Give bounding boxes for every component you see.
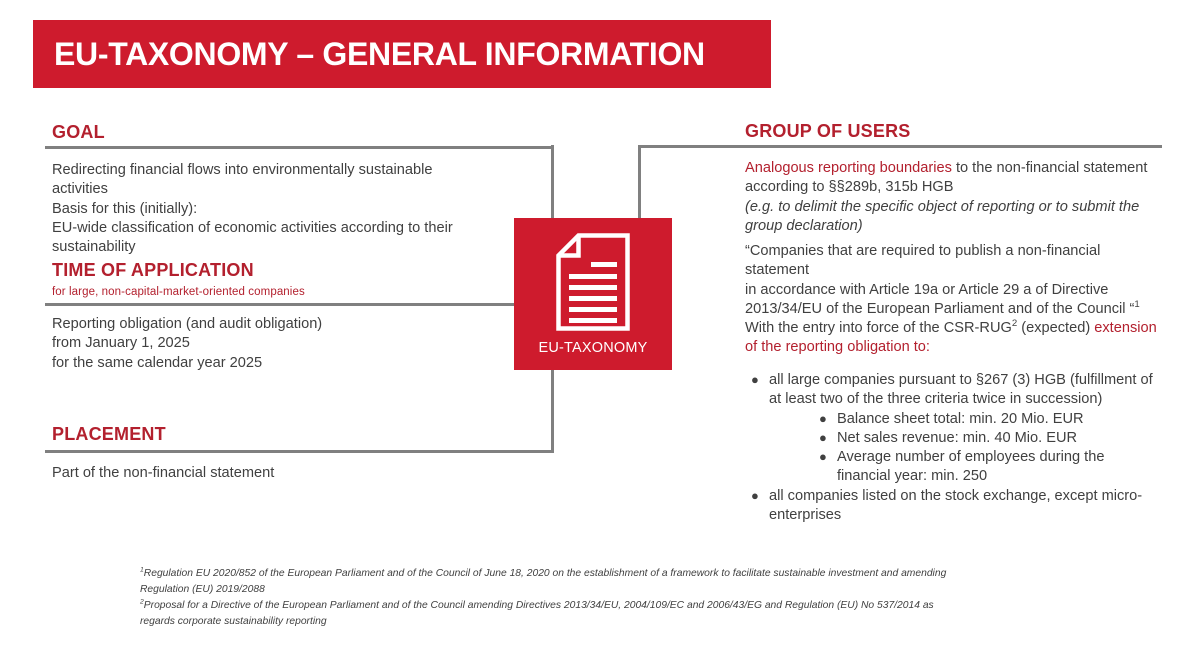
center-tile-label: EU-TAXONOMY bbox=[514, 340, 672, 356]
para2-line-3: 2013/34/EU of the European Parliament an… bbox=[745, 300, 1165, 319]
list-item: ● Balance sheet total: min. 20 Mio. EUR bbox=[813, 410, 1155, 429]
goal-body: Redirecting financial flows into environ… bbox=[52, 161, 522, 257]
placement-body: Part of the non-financial statement bbox=[52, 464, 522, 483]
list-item: ● Net sales revenue: min. 40 Mio. EUR bbox=[813, 429, 1155, 448]
para1-line-2: according to §§289b, 315b HGB bbox=[745, 178, 1165, 197]
bullet-marker-icon: ● bbox=[819, 429, 827, 446]
para2-line-1: “Companies that are required to publish … bbox=[745, 242, 1165, 281]
group-of-users-bullet-list: ● all large companies pursuant to §267 (… bbox=[745, 371, 1155, 525]
toa-line-1: Reporting obligation (and audit obligati… bbox=[52, 315, 522, 334]
time-of-application-body: Reporting obligation (and audit obligati… bbox=[52, 315, 522, 373]
bullet-marker-icon: ● bbox=[819, 448, 827, 465]
para3-lead: With the entry into force of the CSR-RUG bbox=[745, 320, 1012, 336]
bullet-text: Net sales revenue: min. 40 Mio. EUR bbox=[837, 430, 1077, 446]
bullet-list-level-2: ● Balance sheet total: min. 20 Mio. EUR … bbox=[813, 410, 1155, 487]
section-heading-placement: PLACEMENT bbox=[52, 425, 166, 445]
footnote-1-text: Regulation EU 2020/852 of the European P… bbox=[140, 568, 946, 595]
page-title: EU-TAXONOMY – GENERAL INFORMATION bbox=[54, 38, 705, 70]
document-icon bbox=[555, 232, 631, 337]
group-of-users-para-3: With the entry into force of the CSR-RUG… bbox=[745, 319, 1165, 358]
toa-line-2: from January 1, 2025 bbox=[52, 334, 522, 353]
goal-line-2: activities bbox=[52, 180, 522, 199]
goal-line-4: EU-wide classification of economic activ… bbox=[52, 219, 522, 238]
goal-line-3: Basis for this (initially): bbox=[52, 200, 522, 219]
bullet-marker-icon: ● bbox=[819, 410, 827, 427]
bullet-text: all large companies pursuant to §267 (3)… bbox=[769, 372, 1153, 407]
bullet-list-level-1: ● all large companies pursuant to §267 (… bbox=[745, 371, 1155, 525]
bullet-text: Balance sheet total: min. 20 Mio. EUR bbox=[837, 411, 1084, 427]
para1-line-1: Analogous reporting boundaries to the no… bbox=[745, 159, 1165, 178]
footnote-1: 1Regulation EU 2020/852 of the European … bbox=[140, 566, 970, 598]
list-item: ● all large companies pursuant to §267 (… bbox=[745, 371, 1155, 487]
placement-line-1: Part of the non-financial statement bbox=[52, 464, 522, 483]
footnote-marker-1: 1 bbox=[1134, 299, 1139, 310]
section-heading-group-of-users: GROUP OF USERS bbox=[745, 122, 911, 142]
group-of-users-para-2: “Companies that are required to publish … bbox=[745, 242, 1165, 319]
rule-under-group-of-users bbox=[638, 145, 1162, 148]
para3-middle: (expected) bbox=[1017, 320, 1094, 336]
footnote-2-text: Proposal for a Directive of the European… bbox=[140, 600, 934, 627]
section-heading-time-of-application: TIME OF APPLICATION bbox=[52, 261, 254, 281]
list-item: ● all companies listed on the stock exch… bbox=[745, 487, 1155, 526]
footnote-2: 2Proposal for a Directive of the Europea… bbox=[140, 598, 970, 630]
rule-under-time-of-application bbox=[45, 303, 553, 306]
goal-line-5: sustainability bbox=[52, 238, 522, 257]
bullet-text: all companies listed on the stock exchan… bbox=[769, 488, 1142, 523]
section-subheading-time-of-application: for large, non-capital-market-oriented c… bbox=[52, 286, 305, 299]
para1-italic-line-1: (e.g. to delimit the specific object of … bbox=[745, 198, 1165, 217]
list-item: ● Average number of employees during the… bbox=[813, 448, 1155, 487]
slide-canvas: EU-TAXONOMY – GENERAL INFORMATION GOAL R… bbox=[0, 0, 1203, 659]
bullet-marker-icon: ● bbox=[751, 487, 759, 504]
group-of-users-para-1: Analogous reporting boundaries to the no… bbox=[745, 159, 1165, 236]
goal-line-1: Redirecting financial flows into environ… bbox=[52, 161, 522, 180]
slide-title-bar: EU-TAXONOMY – GENERAL INFORMATION bbox=[33, 20, 771, 88]
rule-under-placement bbox=[45, 450, 553, 453]
connector-right-vertical bbox=[638, 145, 641, 220]
para2-line-3-text: 2013/34/EU of the European Parliament an… bbox=[745, 301, 1134, 317]
bullet-marker-icon: ● bbox=[751, 371, 759, 388]
section-heading-goal: GOAL bbox=[52, 123, 105, 143]
rule-under-goal bbox=[45, 146, 553, 149]
para2-line-2: in accordance with Article 19a or Articl… bbox=[745, 281, 1165, 300]
center-tile-eu-taxonomy: EU-TAXONOMY bbox=[514, 218, 672, 370]
footnotes-block: 1Regulation EU 2020/852 of the European … bbox=[140, 566, 970, 630]
para1-rest: to the non-financial statement bbox=[952, 160, 1148, 176]
bullet-text: Average number of employees during the f… bbox=[837, 449, 1104, 484]
toa-line-3: for the same calendar year 2025 bbox=[52, 354, 522, 373]
para1-italic-line-2: group declaration) bbox=[745, 217, 1165, 236]
para1-highlight: Analogous reporting boundaries bbox=[745, 160, 952, 176]
